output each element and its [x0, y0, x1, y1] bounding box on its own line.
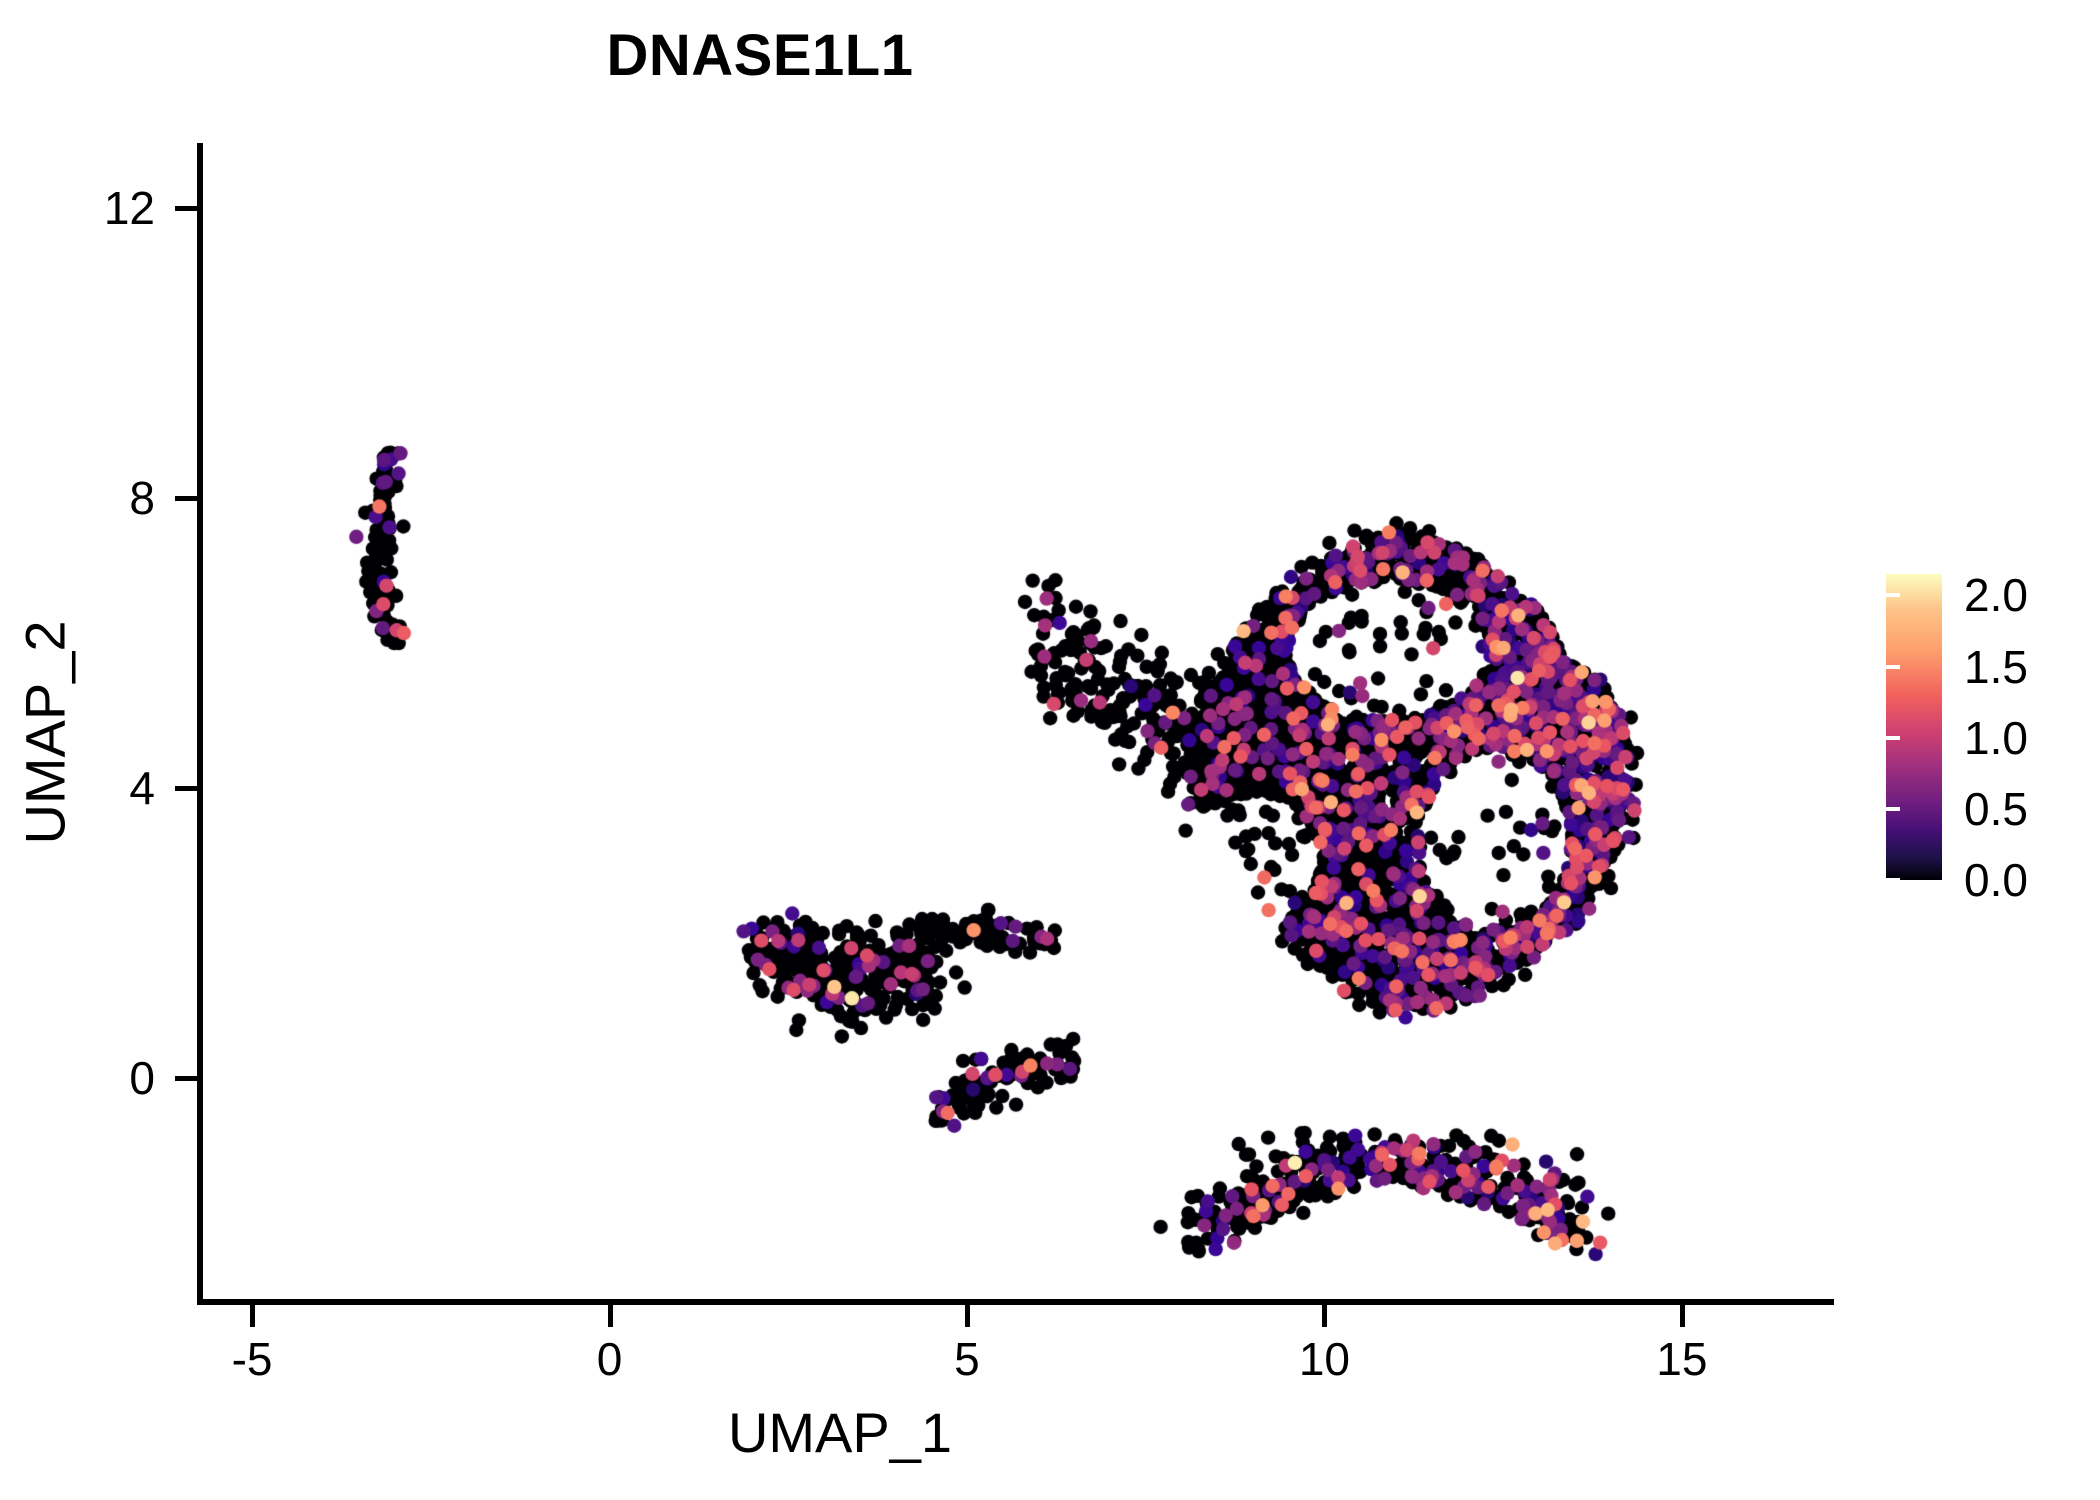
colorbar-tick-mark: [1886, 593, 1900, 597]
chart-title: DNASE1L1: [0, 22, 1520, 89]
y-tick-mark: [175, 496, 197, 501]
colorbar-tick-mark: [1872, 665, 1886, 669]
y-axis-title: UMAP_2: [13, 453, 78, 1013]
y-tick-label: 12: [35, 181, 155, 235]
x-tick-label: 5: [897, 1332, 1037, 1386]
x-tick-label: 10: [1254, 1332, 1394, 1386]
x-axis-line: [197, 1299, 1834, 1305]
colorbar-tick-label: 1.5: [1964, 640, 2028, 694]
colorbar-tick-mark: [1886, 736, 1900, 740]
colorbar-tick-label: 1.0: [1964, 711, 2028, 765]
y-tick-mark: [175, 786, 197, 791]
colorbar-tick-mark: [1872, 878, 1886, 882]
colorbar-tick-label: 0.5: [1964, 782, 2028, 836]
y-axis-line: [197, 143, 203, 1305]
y-tick-mark: [175, 1076, 197, 1081]
x-tick-mark: [965, 1305, 970, 1327]
x-tick-label: 0: [540, 1332, 680, 1386]
y-tick-mark: [175, 206, 197, 211]
colorbar-tick-mark: [1886, 665, 1900, 669]
y-tick-label: 0: [35, 1051, 155, 1105]
colorbar-tick-mark: [1886, 807, 1900, 811]
x-tick-mark: [1680, 1305, 1685, 1327]
figure-root: DNASE1L1 04812 -5051015 UMAP_1 UMAP_2 2.…: [0, 0, 2100, 1500]
x-tick-mark: [608, 1305, 613, 1327]
colorbar-tick-mark: [1872, 807, 1886, 811]
colorbar-tick-label: 2.0: [1964, 568, 2028, 622]
scatter-plot-panel: [202, 143, 1832, 1303]
colorbar-tick-mark: [1886, 878, 1900, 882]
colorbar-tick-mark: [1872, 736, 1886, 740]
x-tick-label: -5: [182, 1332, 322, 1386]
x-axis-title: UMAP_1: [560, 1400, 1120, 1465]
colorbar-tick-label: 0.0: [1964, 853, 2028, 907]
colorbar-tick-mark: [1872, 593, 1886, 597]
x-tick-label: 15: [1612, 1332, 1752, 1386]
colorbar-gradient: [1886, 574, 1942, 880]
x-tick-mark: [1322, 1305, 1327, 1327]
scatter-canvas: [202, 143, 1832, 1303]
x-tick-mark: [250, 1305, 255, 1327]
